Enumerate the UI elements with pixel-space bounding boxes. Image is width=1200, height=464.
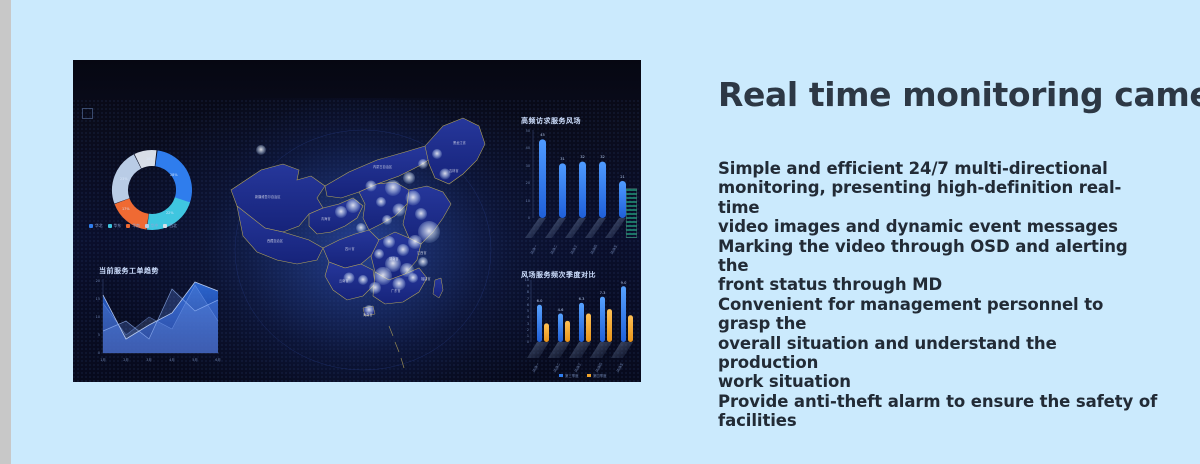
legend-item: 西北 (163, 223, 177, 228)
svg-text:风场一: 风场一 (531, 361, 540, 373)
svg-text:10: 10 (526, 199, 530, 203)
bar-2 (579, 162, 586, 218)
svg-text:31: 31 (560, 157, 565, 161)
bar-1 (559, 163, 566, 218)
description-line: Marking the video through OSD and alerti… (718, 237, 1158, 276)
svg-text:45: 45 (540, 133, 545, 137)
legend-swatch-icon (108, 224, 112, 228)
svg-text:风场五: 风场五 (609, 243, 618, 255)
svg-text:风场三: 风场三 (573, 361, 582, 373)
description-line: Simple and efficient 24/7 multi-directio… (718, 159, 1158, 178)
svg-text:9.0: 9.0 (621, 281, 627, 285)
legend-swatch-icon (145, 224, 149, 228)
svg-text:20: 20 (96, 279, 100, 283)
legend-label: 西北 (169, 223, 177, 228)
panel-corner-icon (82, 108, 93, 119)
svg-text:3: 3 (527, 322, 529, 326)
legend-label: 华南 (132, 223, 140, 228)
svg-text:2: 2 (527, 328, 529, 332)
svg-text:9: 9 (527, 284, 529, 288)
group-chart-legend: 第三季度 第四季度 (559, 373, 607, 378)
svg-text:风场四: 风场四 (594, 361, 603, 373)
svg-text:4月: 4月 (169, 358, 175, 362)
series-q3 (537, 286, 626, 342)
svg-text:四川省: 四川省 (345, 246, 355, 251)
high-demand-windfarm-bar-chart: 0 10 20 30 40 50 (511, 114, 639, 264)
svg-text:青海省: 青海省 (321, 216, 331, 221)
svg-text:28%: 28% (170, 173, 178, 177)
legend-swatch-icon (126, 224, 130, 228)
svg-text:4.6: 4.6 (558, 308, 564, 312)
description-line: front status through MD (718, 275, 1158, 294)
page-title: Real time monitoring camera (718, 76, 1178, 114)
donut-legend: 华北 华东 华南 华中 西北 (89, 223, 177, 228)
svg-text:云南省: 云南省 (339, 278, 349, 283)
legend-item: 华东 (108, 223, 122, 228)
svg-text:4: 4 (527, 315, 529, 319)
svg-text:40: 40 (526, 146, 530, 150)
description-block: Simple and efficient 24/7 multi-directio… (718, 159, 1158, 431)
description-line: monitoring, presenting high-definition r… (718, 178, 1158, 217)
svg-text:风场五: 风场五 (615, 361, 624, 373)
service-order-trend-chart: 0 5 10 15 20 1月 2月 3月 (85, 265, 225, 375)
svg-text:7: 7 (527, 297, 529, 301)
svg-text:第三季度: 第三季度 (565, 373, 579, 378)
svg-text:50: 50 (526, 129, 530, 133)
svg-text:30: 30 (526, 164, 530, 168)
svg-text:10: 10 (525, 278, 529, 282)
dashboard-screenshot: 湖南世优电气创享平台 144 全国风场总数量 2424 全国风机总数量 1575… (73, 60, 641, 382)
svg-text:23%: 23% (120, 177, 128, 181)
description-line: Provide anti-theft alarm to ensure the s… (718, 392, 1158, 411)
legend-item: 华南 (126, 223, 140, 228)
legend-label: 华北 (95, 223, 103, 228)
svg-text:8: 8 (527, 290, 529, 294)
svg-text:6月: 6月 (215, 358, 221, 362)
svg-text:3月: 3月 (146, 358, 152, 362)
svg-text:海南省: 海南省 (363, 312, 373, 317)
svg-text:内蒙古自治区: 内蒙古自治区 (373, 164, 393, 169)
svg-text:15: 15 (96, 297, 100, 301)
svg-text:黑龙江省: 黑龙江省 (453, 140, 467, 145)
svg-text:17%: 17% (122, 207, 130, 211)
text-column: Real time monitoring camera Simple and e… (718, 76, 1178, 114)
svg-text:湖南省: 湖南省 (389, 256, 399, 261)
svg-text:6.0: 6.0 (537, 299, 543, 303)
svg-text:福建省: 福建省 (421, 276, 431, 281)
description-line: facilities (718, 411, 1158, 430)
region-donut-chart: 28% 22% 17% 23% 10% (87, 132, 217, 250)
svg-text:风场一: 风场一 (529, 243, 538, 255)
legend-swatch-icon (163, 224, 167, 228)
svg-text:第四季度: 第四季度 (593, 373, 607, 378)
svg-text:5月: 5月 (192, 358, 198, 362)
description-lines: Simple and efficient 24/7 multi-directio… (718, 159, 1158, 431)
svg-text:32: 32 (580, 155, 585, 159)
description-line: overall situation and understand the pro… (718, 334, 1158, 373)
bar-3 (599, 162, 606, 218)
svg-text:风场三: 风场三 (569, 243, 578, 255)
svg-text:22%: 22% (166, 211, 174, 215)
svg-text:7.3: 7.3 (600, 291, 606, 295)
svg-text:0: 0 (528, 216, 530, 220)
description-line: video images and dynamic event messages (718, 217, 1158, 236)
svg-text:风场二: 风场二 (552, 361, 561, 373)
svg-text:6.3: 6.3 (579, 297, 585, 301)
svg-text:0: 0 (527, 340, 529, 344)
legend-label: 华中 (151, 223, 159, 228)
svg-text:5: 5 (527, 309, 529, 313)
legend-label: 华东 (114, 223, 122, 228)
svg-text:吉林省: 吉林省 (449, 168, 459, 173)
svg-text:5: 5 (98, 333, 100, 337)
svg-text:6: 6 (527, 303, 529, 307)
quarterly-service-comparison-chart: 0 1 2 3 4 5 6 7 8 9 10 (511, 268, 639, 380)
legend-item: 华北 (89, 223, 103, 228)
svg-text:风场二: 风场二 (549, 243, 558, 255)
svg-text:江西省: 江西省 (417, 250, 427, 255)
svg-text:32: 32 (600, 155, 605, 159)
status-gauge-indicator (626, 188, 637, 238)
svg-text:西藏自治区: 西藏自治区 (267, 238, 284, 243)
svg-text:风场四: 风场四 (589, 243, 598, 255)
description-line: work situation (718, 372, 1158, 391)
svg-text:20: 20 (526, 181, 530, 185)
svg-text:10: 10 (96, 315, 100, 319)
series-q4 (544, 309, 633, 342)
description-line: Convenient for management personnel to g… (718, 295, 1158, 334)
svg-text:2月: 2月 (123, 358, 129, 362)
legend-swatch-icon (89, 224, 93, 228)
bar-4 (619, 181, 626, 218)
svg-text:新疆维吾尔自治区: 新疆维吾尔自治区 (255, 194, 281, 199)
svg-text:广东省: 广东省 (391, 288, 401, 293)
legend-item: 华中 (145, 223, 159, 228)
svg-text:1: 1 (527, 334, 529, 338)
svg-text:10%: 10% (146, 157, 154, 161)
left-gutter (0, 0, 11, 464)
bar-0 (539, 139, 546, 218)
dashboard-header (73, 60, 641, 98)
svg-text:0: 0 (98, 351, 100, 355)
slide-canvas: 湖南世优电气创享平台 144 全国风场总数量 2424 全国风机总数量 1575… (0, 0, 1200, 464)
china-map: 新疆维吾尔自治区 西藏自治区 内蒙古自治区 青海省 四川省 云南省 黑龙江省 吉… (213, 102, 513, 382)
svg-text:1月: 1月 (100, 358, 106, 362)
svg-text:21: 21 (620, 175, 625, 179)
